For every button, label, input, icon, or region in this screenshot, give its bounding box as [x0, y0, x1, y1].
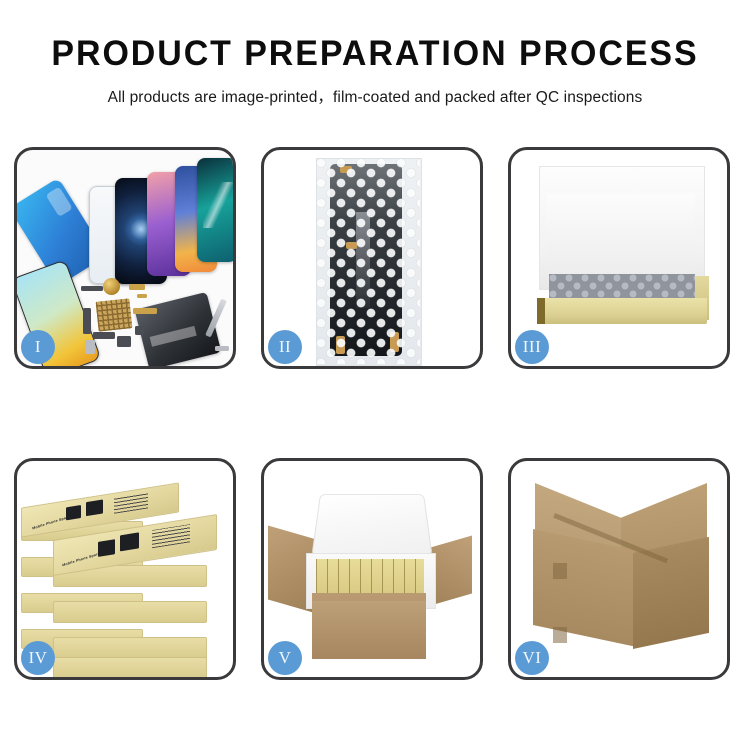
small-part-icon	[81, 286, 103, 291]
carton-front-icon	[312, 601, 426, 659]
step-badge-5: V	[268, 641, 302, 675]
carton-tape-icon	[553, 563, 567, 579]
phone-teal-icon	[197, 158, 233, 262]
product-preparation-infographic: PRODUCT PREPARATION PROCESS All products…	[0, 0, 750, 750]
box-label-image	[66, 505, 81, 520]
step-panel-4: Mobile Phone Spare Parts Mobile Phone Sp…	[14, 458, 236, 680]
small-part-icon	[117, 336, 131, 347]
stacked-box	[53, 637, 207, 659]
process-steps-grid: I II III	[14, 147, 736, 680]
step-panel-2: II	[261, 147, 483, 369]
box-label-image	[120, 532, 139, 551]
flex-cable-icon	[133, 308, 157, 314]
box-label-image	[98, 539, 115, 557]
stacked-box	[53, 657, 207, 677]
box-label-lines	[152, 524, 190, 548]
wrapped-items-icon	[549, 274, 695, 300]
box-front-panel-icon	[537, 298, 707, 324]
header: PRODUCT PREPARATION PROCESS All products…	[0, 0, 750, 107]
small-part-icon	[215, 346, 229, 351]
step-panel-5: V	[261, 458, 483, 680]
bubble-texture-icon	[316, 158, 420, 364]
carton-left-face	[533, 529, 635, 647]
step-panel-3: III	[508, 147, 730, 369]
step-badge-6: VI	[515, 641, 549, 675]
box-label-image	[86, 500, 103, 517]
page-title: PRODUCT PREPARATION PROCESS	[11, 36, 739, 71]
page-subtitle: All products are image-printed，film-coat…	[0, 85, 750, 107]
box-label-lines	[114, 492, 148, 513]
step-badge-1: I	[21, 330, 55, 364]
connector-grid-icon	[96, 298, 133, 331]
flex-cable-icon	[83, 308, 91, 334]
small-part-icon	[129, 284, 145, 290]
small-part-icon	[85, 340, 95, 354]
step-panel-6: VI	[508, 458, 730, 680]
small-part-icon	[93, 332, 115, 339]
small-part-icon	[137, 294, 147, 298]
step-badge-3: III	[515, 330, 549, 364]
foam-lid-icon	[311, 494, 432, 556]
step-badge-2: II	[268, 330, 302, 364]
small-part-icon	[135, 326, 144, 335]
carton-tape-icon	[553, 627, 567, 643]
step-panel-1: I	[14, 147, 236, 369]
foam-sheet-icon	[547, 194, 695, 274]
step-badge-4: IV	[21, 641, 55, 675]
speaker-module-icon	[103, 278, 120, 295]
stacked-box	[53, 601, 207, 623]
